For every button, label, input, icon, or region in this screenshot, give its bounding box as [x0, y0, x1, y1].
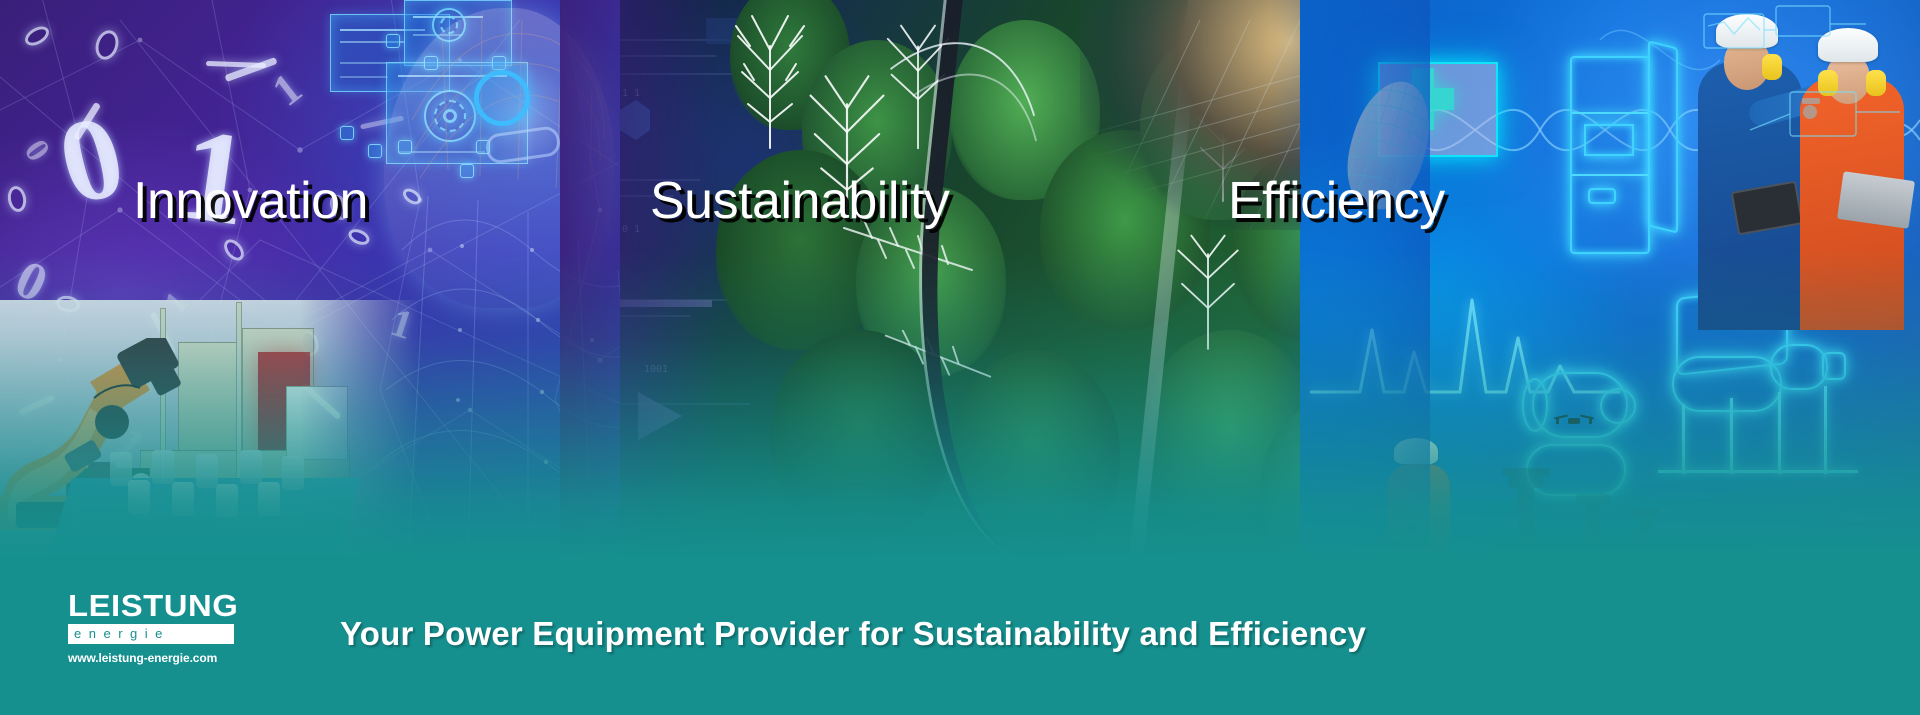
neon-generator-flange — [1522, 378, 1548, 432]
neon-base-leg — [1778, 392, 1781, 474]
marketing-banner: 0 1 0 1 1 0 1 0 0 1 — [0, 0, 1920, 715]
banner-tagline: Your Power Equipment Provider for Sustai… — [340, 615, 1640, 653]
neon-cabinet-meter — [1584, 124, 1634, 156]
insulator-unit — [216, 484, 238, 518]
neon-cabinet-divider — [1572, 174, 1648, 176]
heading-innovation: Innovation — [133, 171, 368, 231]
neon-base-leg — [1824, 386, 1827, 474]
insulator-tray — [48, 478, 362, 560]
logo-subtext: energie — [74, 626, 170, 642]
drone-icon — [1552, 412, 1596, 428]
heading-sustainability: Sustainability — [650, 171, 949, 231]
binary-ring — [92, 27, 122, 62]
insulator-unit — [152, 450, 174, 484]
binary-digit: 1 — [263, 63, 312, 117]
neon-cabinet-handle — [1588, 188, 1616, 204]
logo-wordmark: LEISTUNG — [68, 590, 322, 621]
panel-innovation: 0 1 0 1 1 0 1 0 0 1 — [0, 0, 700, 560]
engineers-photo-region — [1690, 0, 1920, 330]
insulator-unit — [172, 482, 194, 516]
field-worker-silhouette — [1388, 430, 1478, 560]
binary-digit: 0 — [16, 133, 57, 169]
engineer-hud-overlay — [1690, 0, 1920, 330]
binary-bar — [224, 57, 277, 82]
hard-hat-white — [1394, 438, 1438, 464]
white-tree-silhouette — [1160, 230, 1256, 360]
neon-generator-endcap — [1600, 388, 1636, 424]
insulator-unit — [196, 454, 218, 488]
insulator-unit — [258, 482, 280, 516]
binary-digit: 0 — [46, 89, 137, 231]
insulator-unit — [240, 450, 262, 484]
insulator-unit — [282, 456, 304, 490]
industrial-silhouette — [1490, 440, 1750, 560]
field-worker-body — [1388, 464, 1450, 560]
binary-bar — [206, 61, 266, 68]
binary-bar — [73, 102, 101, 141]
heading-efficiency: Efficiency — [1228, 171, 1445, 231]
neon-cabinet-side — [1648, 40, 1678, 233]
binary-ring — [220, 236, 248, 265]
panel-sustainability: 1 10 11001 — [620, 0, 1380, 560]
neon-turbine-coupling — [1822, 352, 1846, 380]
insulator-unit — [128, 480, 150, 514]
neon-turbine-shaft — [1770, 344, 1828, 390]
binary-ring — [22, 23, 53, 50]
company-logo[interactable]: LEISTUNG energie www.leistung-energie.co… — [68, 590, 308, 665]
neon-cabinet-divider — [1572, 112, 1648, 114]
binary-ring — [6, 185, 28, 214]
ai-eye-icon — [474, 70, 530, 126]
factory-panel-white — [286, 386, 348, 460]
logo-website-url[interactable]: www.leistung-energie.com — [68, 651, 308, 665]
neon-turbine-rotor — [1672, 356, 1782, 412]
logo-sub-band: energie — [68, 624, 234, 644]
